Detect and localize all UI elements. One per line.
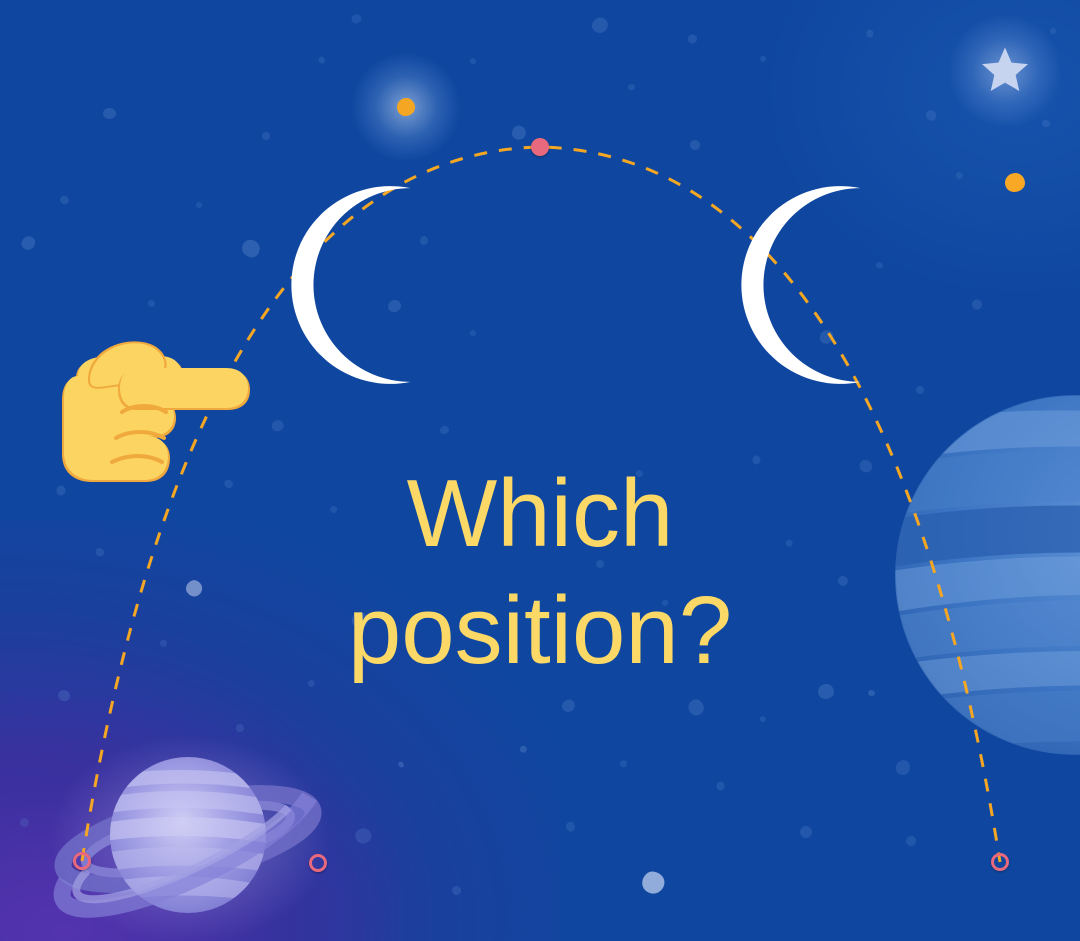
glowing-star-icon [979, 44, 1031, 96]
left-endpoint-marker[interactable] [73, 852, 91, 870]
orange-dot-right [1005, 173, 1025, 192]
right-endpoint-marker[interactable] [991, 853, 1009, 871]
moon-right [712, 182, 918, 388]
moon-left [262, 182, 468, 388]
backhand-index-pointing-right-icon [50, 326, 255, 486]
middle-marker[interactable] [309, 854, 327, 872]
page-title: Which position? [300, 455, 780, 689]
orange-dot-top [397, 98, 415, 116]
space-scene-canvas: Which position? [0, 0, 1080, 941]
apex-marker[interactable] [531, 138, 549, 156]
